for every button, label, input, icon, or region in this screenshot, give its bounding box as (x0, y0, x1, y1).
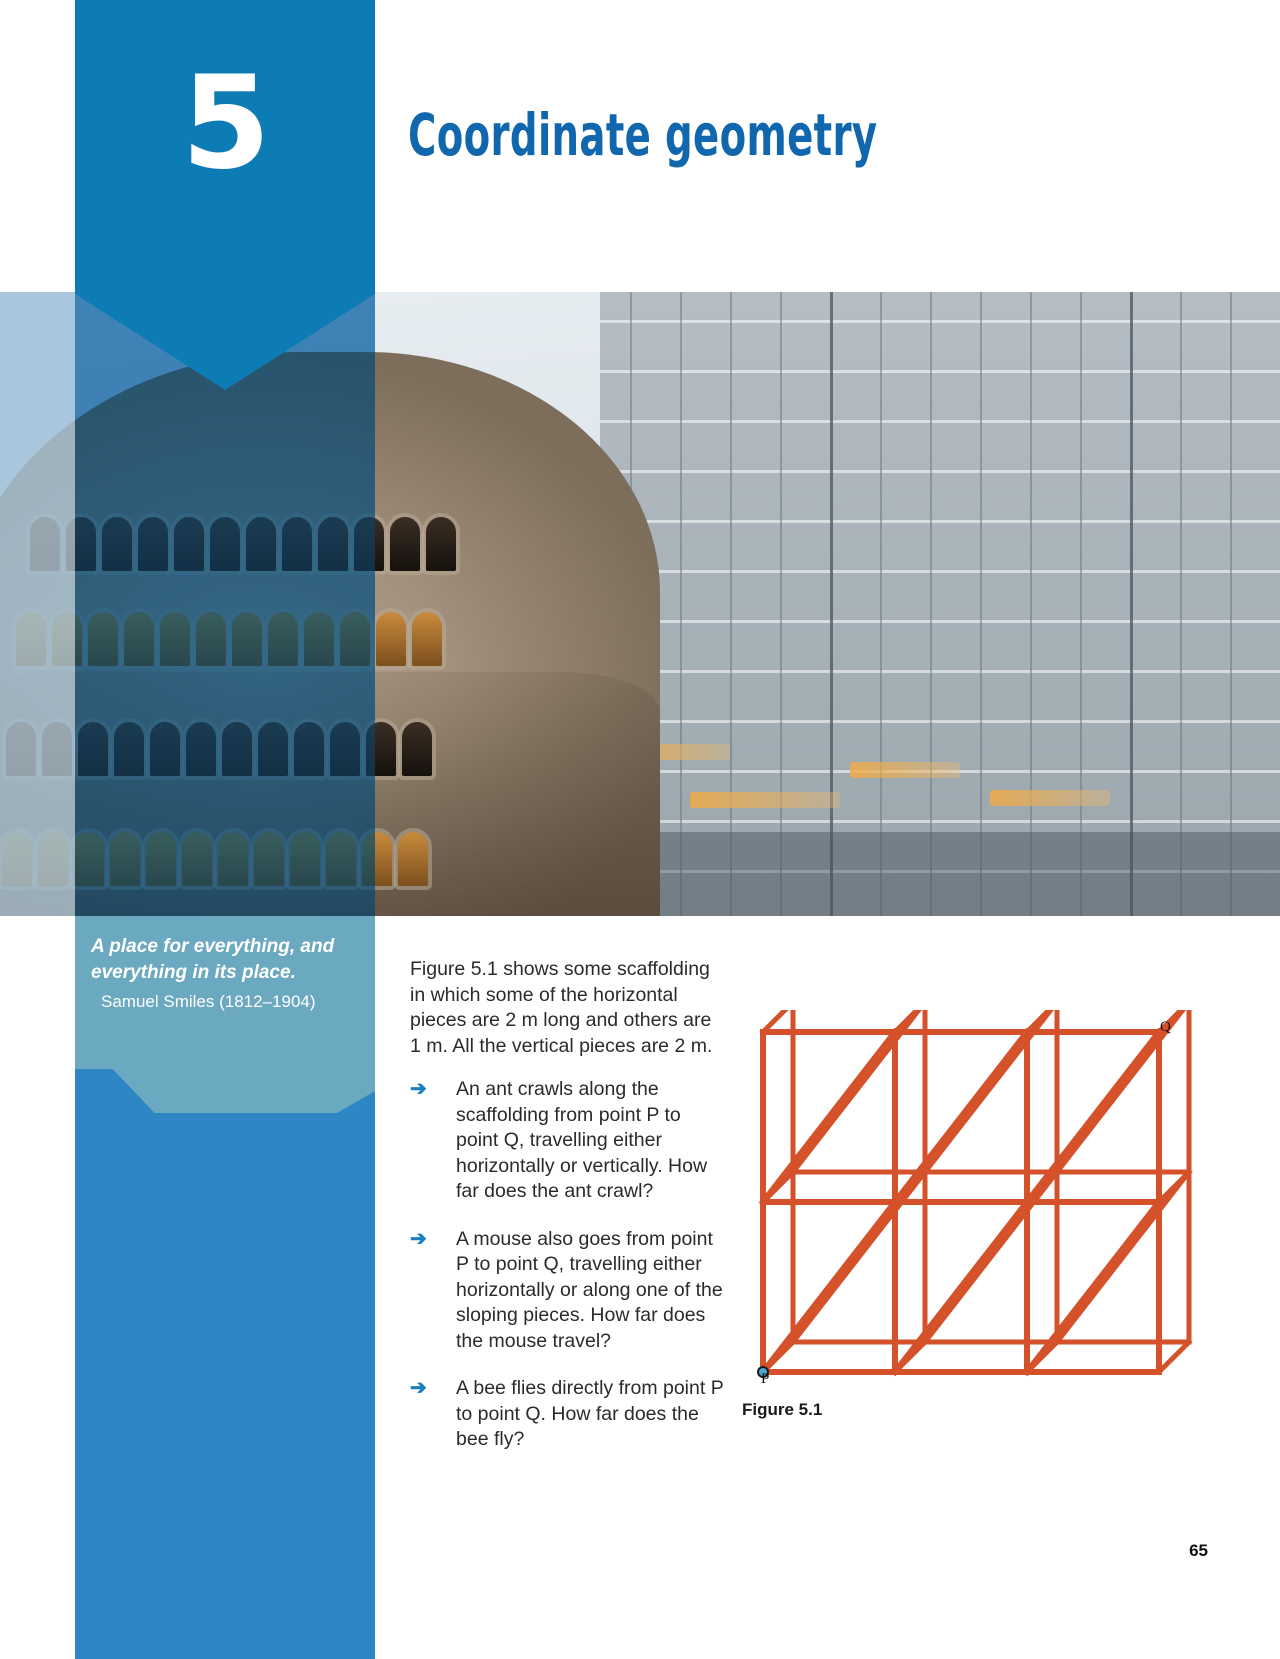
left-light-strip (0, 292, 75, 916)
sidebar-blue-panel (75, 1047, 375, 1659)
figure-caption: Figure 5.1 (742, 1400, 822, 1420)
list-item: ➔ A mouse also goes from point P to poin… (410, 1227, 726, 1355)
arrow-bullet-icon: ➔ (410, 1376, 456, 1453)
list-item: ➔ A bee flies directly from point P to p… (410, 1376, 726, 1453)
chapter-number: 5 (75, 60, 375, 188)
scaffolding-photo-region (600, 292, 1280, 916)
list-item-text: A bee flies directly from point P to poi… (456, 1376, 726, 1453)
body-text-column: Figure 5.1 shows some scaffolding in whi… (410, 957, 726, 1475)
arrow-bullet-icon: ➔ (410, 1227, 456, 1355)
intro-paragraph: Figure 5.1 shows some scaffolding in whi… (410, 957, 726, 1059)
list-item-text: An ant crawls along the scaffolding from… (456, 1077, 726, 1205)
point-P-label: P (761, 1371, 769, 1388)
arrow-bullet-icon: ➔ (410, 1077, 456, 1205)
scaffolding-diagram (735, 1010, 1195, 1410)
figure-5-1 (735, 1010, 1195, 1410)
chapter-hero-image (0, 292, 1280, 916)
list-item-text: A mouse also goes from point P to point … (456, 1227, 726, 1355)
page-number: 65 (1189, 1541, 1208, 1561)
list-item: ➔ An ant crawls along the scaffolding fr… (410, 1077, 726, 1205)
point-Q-label: Q (1160, 1019, 1171, 1036)
quote-attribution: Samuel Smiles (1812–1904) (101, 990, 353, 1014)
quote-text: A place for everything, and everything i… (91, 934, 353, 986)
page-title: Coordinate geometry (408, 104, 877, 166)
quote-box: A place for everything, and everything i… (75, 916, 375, 1047)
